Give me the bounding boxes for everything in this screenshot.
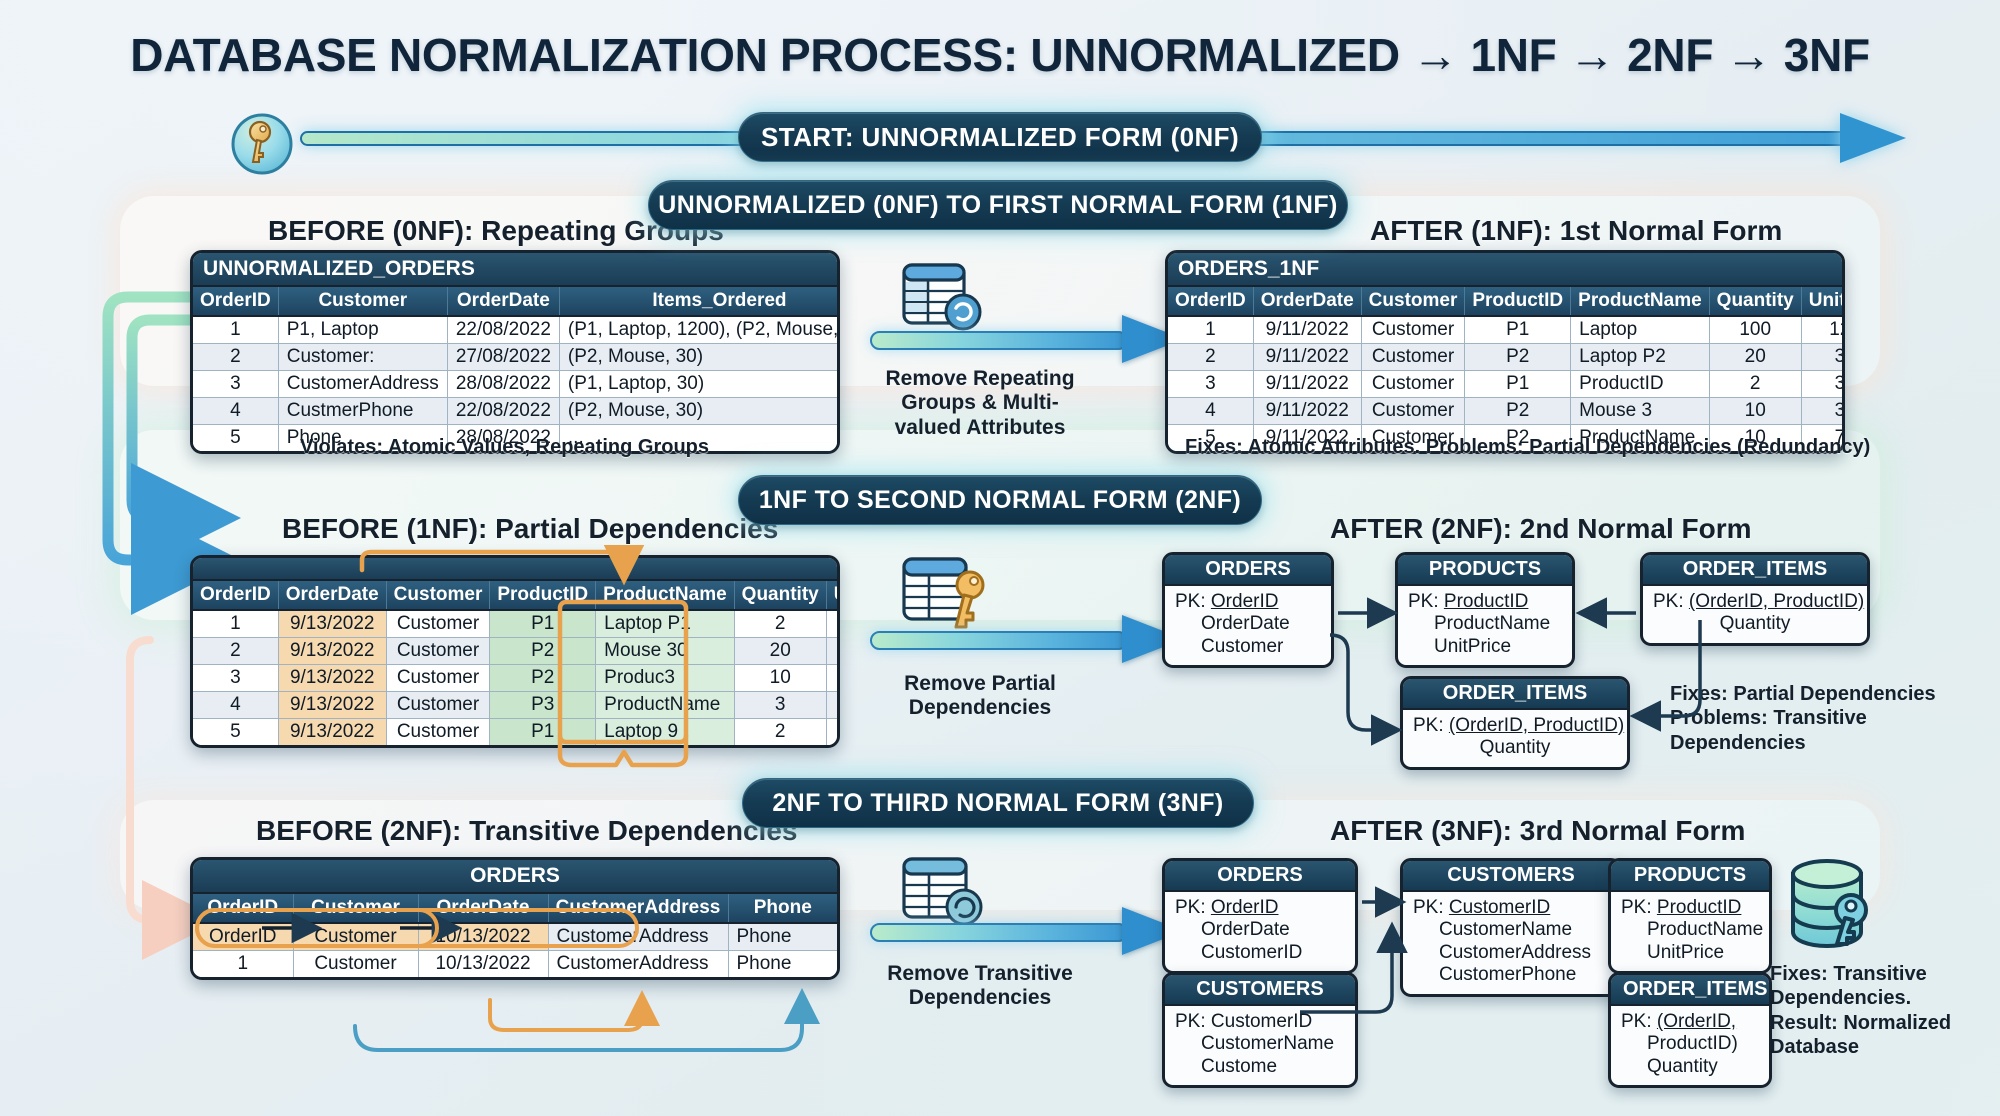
table-row: 59/13/2022CustomerP1Laptop 921300 — [193, 719, 840, 746]
cell: 9/13/2022 — [278, 638, 386, 665]
cell: 30 — [826, 665, 840, 692]
cell: P2 — [1465, 398, 1571, 425]
cell: 4 — [1168, 398, 1253, 425]
cell: CustmerPhone — [278, 398, 447, 425]
table-header-row: OrderID Customer OrderDate CustomerAddre… — [193, 893, 837, 923]
cell: Laptop P2 — [1571, 344, 1710, 371]
entity-title: ORDER_ITEMS — [1643, 555, 1867, 586]
page-title: DATABASE NORMALIZATION PROCESS: UNNORMAL… — [0, 28, 2000, 82]
entity-title: PRODUCTS — [1398, 555, 1572, 586]
pk-value: (OrderID, ProductID) — [1689, 591, 1864, 612]
cell: Laptop 9 — [596, 719, 735, 746]
cell: Customer — [386, 692, 490, 719]
cell: (P1, Laptop, 30) — [559, 371, 840, 398]
pk-prefix: PK: — [1175, 897, 1211, 918]
col-orderid: OrderID — [193, 580, 278, 610]
entity-customers-3nf-b: CUSTOMERS PK: CustomerID CustomerName Cu… — [1162, 972, 1358, 1088]
cell: P1 — [1465, 371, 1571, 398]
pk-prefix: PK: — [1413, 715, 1449, 736]
section-1-transform-arrow — [870, 325, 1200, 355]
table-row: 1 Customer 10/13/2022 CustomerAddress Ph… — [193, 951, 837, 978]
orders-2nf-transitive-table: ORDERS OrderID Customer OrderDate Custom… — [190, 857, 840, 980]
pk-prefix: PK: — [1408, 591, 1444, 612]
cell: Customer — [386, 665, 490, 692]
pk-value: (OrderID, ProductID) — [1449, 715, 1624, 736]
pk-value: OrderID — [1211, 897, 1279, 918]
cell: P1 — [1465, 316, 1571, 344]
table-name: ORDERS — [193, 860, 837, 893]
col-orderid: OrderID — [193, 893, 293, 923]
cell: 3 — [1168, 371, 1253, 398]
section-2-note: Fixes: Partial Dependencies Problems: Tr… — [1670, 682, 2000, 755]
entity-title: CUSTOMERS — [1403, 861, 1619, 892]
entity-field: CustomerID — [1175, 942, 1345, 964]
pk-value: CustomerID — [1449, 897, 1550, 918]
cell: 9/11/2022 — [1253, 371, 1361, 398]
entity-field: Custome — [1175, 1056, 1345, 1078]
cell: Customer — [293, 951, 418, 978]
entity-pk: PK: (OrderID, — [1621, 1011, 1759, 1033]
cell: Phone — [728, 951, 837, 978]
entity-field: CustomerPhone — [1413, 964, 1609, 986]
cell: 10/13/2022 — [418, 923, 548, 951]
cell: Customer — [386, 610, 490, 638]
cell: 2 — [1709, 371, 1801, 398]
cell: 300 — [1801, 344, 1845, 371]
cell: P2 — [490, 665, 596, 692]
cell: 4 — [193, 692, 278, 719]
col-orderdate: OrderDate — [447, 286, 559, 316]
cell: P1, Laptop — [278, 316, 447, 344]
cell: OrderID — [193, 923, 293, 951]
col-productname: ProductName — [1571, 286, 1710, 316]
table-header-row: OrderID OrderDate Customer ProductID Pro… — [1168, 286, 1845, 316]
col-unitprice: UnitPrice — [826, 580, 840, 610]
cell: CustomerAddress — [548, 951, 728, 978]
section-3-pill: 2NF TO THIRD NORMAL FORM (3NF) — [742, 778, 1254, 828]
pk-value: ProductID — [1657, 897, 1741, 918]
table-row: 3CustomerAddress28/08/2022(P1, Laptop, 3… — [193, 371, 840, 398]
flow-arrow-head — [1840, 113, 1906, 163]
col-unitprice: UnitPrice — [1801, 286, 1845, 316]
pk-value: CustomerID — [1211, 1011, 1312, 1032]
cell: Customer — [1361, 316, 1465, 344]
cell: Laptop P1 — [596, 610, 735, 638]
cell: 2 — [193, 638, 278, 665]
cell: 9/13/2022 — [278, 692, 386, 719]
cell: 2 — [734, 610, 826, 638]
cell: 300 — [1801, 398, 1845, 425]
entity-pk: PK: CustomerID — [1413, 897, 1609, 919]
entity-pk: PK: CustomerID — [1175, 1011, 1345, 1033]
cell: Produc3 — [596, 665, 735, 692]
cell: 3 — [734, 692, 826, 719]
cell: 22/08/2022 — [447, 316, 559, 344]
entity-title: CUSTOMERS — [1165, 975, 1355, 1006]
section-2-transform-label: Remove Partial Dependencies — [860, 672, 1100, 721]
section-1-transform-label: Remove Repeating Groups & Multi- valued … — [860, 367, 1100, 440]
arrow-bar — [870, 331, 1128, 350]
section-3-before-heading: BEFORE (2NF): Transitive Dependencies — [256, 815, 797, 847]
cell: Customer — [293, 923, 418, 951]
cell: 9/13/2022 — [278, 610, 386, 638]
entity-title: ORDER_ITEMS — [1611, 975, 1769, 1006]
entity-field: UnitPrice — [1408, 636, 1562, 658]
pk-value: (OrderID, — [1657, 1011, 1736, 1032]
cell: 2 — [193, 344, 278, 371]
pk-prefix: PK: — [1653, 591, 1689, 612]
key-icon — [230, 100, 294, 188]
cell: 27/08/2022 — [447, 344, 559, 371]
entity-field: UnitPrice — [1621, 942, 1759, 964]
cell: 1200 — [1801, 316, 1845, 344]
cell: 3 — [193, 371, 278, 398]
entity-products-3nf: PRODUCTS PK: ProductID ProductName UnitP… — [1608, 858, 1772, 974]
table-name: UNNORMALIZED_ORDERS — [193, 253, 840, 286]
pk-prefix: PK: — [1621, 1011, 1657, 1032]
cell: (P2, Mouse, 30) — [559, 398, 840, 425]
orders-1nf-table: ORDERS_1NF OrderID OrderDate Customer Pr… — [1165, 250, 1845, 454]
cell: ProductID — [1571, 371, 1710, 398]
entity-pk: PK: OrderID — [1175, 897, 1345, 919]
section-2-pill: 1NF TO SECOND NORMAL FORM (2NF) — [738, 475, 1262, 525]
section-2-before-heading: BEFORE (1NF): Partial Dependencies — [282, 513, 778, 545]
section-3-note: Fixes: Transitive Dependencies. Result: … — [1770, 962, 1990, 1060]
pk-prefix: PK: — [1621, 897, 1657, 918]
cell: 9/13/2022 — [278, 665, 386, 692]
table-row: 4CustmerPhone22/08/2022(P2, Mouse, 30) — [193, 398, 840, 425]
cell: 30 — [826, 638, 840, 665]
cell: Customer — [1361, 371, 1465, 398]
entity-field: Customer — [1175, 636, 1321, 658]
cell: P1 — [490, 610, 596, 638]
section-1-pill: UNNORMALIZED (0NF) TO FIRST NORMAL FORM … — [648, 180, 1348, 230]
entity-order-items-3nf: ORDER_ITEMS PK: (OrderID, ProductID) Qua… — [1608, 972, 1772, 1088]
section-3-transform-arrow — [870, 917, 1200, 947]
cell: 1 — [193, 951, 293, 978]
cell: 22/08/2022 — [447, 398, 559, 425]
pk-prefix: PK: — [1175, 1011, 1211, 1032]
entity-pk: PK: OrderID — [1175, 591, 1321, 613]
col-customer: Customer — [293, 893, 418, 923]
col-customer: Customer — [386, 580, 490, 610]
table-row: 2Customer:27/08/2022(P2, Mouse, 30) — [193, 344, 840, 371]
entity-order-items-2nf-a: ORDER_ITEMS PK: (OrderID, ProductID) Qua… — [1640, 552, 1870, 646]
section-1-before-caption: Violates: Atomic Values, Repeating Group… — [300, 436, 709, 459]
col-items-ordered: Items_Ordered — [559, 286, 840, 316]
cell: P2 — [490, 638, 596, 665]
table-row: 39/13/2022CustomerP2Produc31030 — [193, 665, 840, 692]
cell: 20 — [1709, 344, 1801, 371]
cell: 2 — [1168, 344, 1253, 371]
col-productid: ProductID — [1465, 286, 1571, 316]
cell: Mouse 3 — [1571, 398, 1710, 425]
cell: 10 — [1709, 398, 1801, 425]
col-customer: Customer — [278, 286, 447, 316]
table-row: 19/13/2022CustomerP1Laptop P121200 — [193, 610, 840, 638]
cell: 1 — [193, 610, 278, 638]
col-quantity: Quantity — [1709, 286, 1801, 316]
cell: 10/13/2022 — [418, 951, 548, 978]
cell: (P2, Mouse, 30) — [559, 344, 840, 371]
table-name: ORDERS_1NF — [1168, 253, 1845, 286]
entity-customers-3nf: CUSTOMERS PK: CustomerID CustomerName Cu… — [1400, 858, 1622, 997]
cell: 9/13/2022 — [278, 719, 386, 746]
cell: CustomerAddress — [548, 923, 728, 951]
entity-title: PRODUCTS — [1611, 861, 1769, 892]
col-orderid: OrderID — [193, 286, 278, 316]
entity-title: ORDERS — [1165, 555, 1331, 586]
cell: 3 — [193, 665, 278, 692]
col-productname: ProductName — [596, 580, 735, 610]
section-2-after-heading: AFTER (2NF): 2nd Normal Form — [1330, 513, 1752, 545]
table-row-dependency: OrderID Customer 10/13/2022 CustomerAddr… — [193, 923, 837, 951]
entity-products-2nf: PRODUCTS PK: ProductID ProductName UnitP… — [1395, 552, 1575, 668]
cell: P3 — [490, 692, 596, 719]
start-banner: START: UNNORMALIZED FORM (0NF) — [738, 112, 1262, 162]
cell: 9/11/2022 — [1253, 398, 1361, 425]
entity-pk: PK: (OrderID, ProductID) — [1653, 591, 1857, 613]
table-row: 29/11/2022CustomerP2Laptop P220300 — [1168, 344, 1845, 371]
table-row: 39/11/2022CustomerP1ProductID2300 — [1168, 371, 1845, 398]
cell: CustomerAddress — [278, 371, 447, 398]
cell: P2 — [1465, 344, 1571, 371]
cell: Customer — [386, 638, 490, 665]
entity-pk: PK: ProductID — [1408, 591, 1562, 613]
table-row: 19/11/2022CustomerP1Laptop1001200 — [1168, 316, 1845, 344]
col-customer: Customer — [1361, 286, 1465, 316]
entity-field: Quantity — [1413, 737, 1617, 759]
cell: 28/08/2022 — [447, 371, 559, 398]
section-1-after-caption: Fixes: Atomic Attributes. Problems: Part… — [1185, 436, 1870, 459]
cell: P1 — [490, 719, 596, 746]
pk-prefix: PK: — [1175, 591, 1211, 612]
cell: Customer — [386, 719, 490, 746]
cell: 20 — [734, 638, 826, 665]
entity-field: ProductName — [1621, 919, 1759, 941]
col-quantity: Quantity — [734, 580, 826, 610]
section-2-transform-arrow — [870, 625, 1200, 655]
cell: Mouse 30 — [596, 638, 735, 665]
table-row: 49/13/2022CustomerP3ProductName31200 — [193, 692, 840, 719]
cell: (P1, Laptop, 1200), (P2, Mouse, 30) — [559, 316, 840, 344]
col-orderdate: OrderDate — [1253, 286, 1361, 316]
col-orderid: OrderID — [1168, 286, 1253, 316]
orders-1nf-partial-dep-table: OrderID OrderDate Customer ProductID Pro… — [190, 555, 840, 748]
table-name-spacer — [193, 558, 840, 580]
col-orderdate: OrderDate — [418, 893, 548, 923]
pk-prefix: PK: — [1413, 897, 1449, 918]
entity-field: OrderDate — [1175, 919, 1345, 941]
col-customeraddress: CustomerAddress — [548, 893, 728, 923]
database-key-icon — [1775, 852, 1881, 963]
cell: 2 — [734, 719, 826, 746]
table-header-row: OrderID Customer OrderDate Items_Ordered — [193, 286, 840, 316]
col-orderdate: OrderDate — [278, 580, 386, 610]
entity-title: ORDER_ITEMS — [1403, 679, 1627, 710]
pk-value: ProductID — [1444, 591, 1528, 612]
entity-pk: PK: ProductID — [1621, 897, 1759, 919]
cell: 10 — [734, 665, 826, 692]
entity-field: CustomerName — [1175, 1033, 1345, 1055]
cell: 1 — [193, 316, 278, 344]
entity-title: ORDERS — [1165, 861, 1355, 892]
cell: Customer: — [278, 344, 447, 371]
cell: 4 — [193, 398, 278, 425]
cell: Phone — [728, 923, 837, 951]
entity-field: OrderDate — [1175, 613, 1321, 635]
section-3-after-heading: AFTER (3NF): 3rd Normal Form — [1330, 815, 1745, 847]
entity-field: Quantity — [1621, 1056, 1759, 1078]
cell: 1300 — [826, 719, 840, 746]
cell: 1200 — [826, 692, 840, 719]
entity-order-items-2nf-b: ORDER_ITEMS PK: (OrderID, ProductID) Qua… — [1400, 676, 1630, 770]
cell: 300 — [1801, 371, 1845, 398]
entity-orders-3nf: ORDERS PK: OrderID OrderDate CustomerID — [1162, 858, 1358, 974]
cell: 9/11/2022 — [1253, 316, 1361, 344]
entity-field: CustomerName — [1413, 919, 1609, 941]
table-header-row: OrderID OrderDate Customer ProductID Pro… — [193, 580, 840, 610]
cell: Laptop — [1571, 316, 1710, 344]
arrow-bar — [870, 923, 1128, 942]
table-row: 49/11/2022CustomerP2Mouse 310300 — [1168, 398, 1845, 425]
cell: 5 — [193, 719, 278, 746]
unnormalized-orders-table: UNNORMALIZED_ORDERS OrderID Customer Ord… — [190, 250, 840, 454]
entity-field: Quantity — [1653, 613, 1857, 635]
section-3-transform-label: Remove Transitive Dependencies — [860, 962, 1100, 1011]
cell: 1200 — [826, 610, 840, 638]
entity-field: CustomerAddress — [1413, 942, 1609, 964]
cell: 9/11/2022 — [1253, 344, 1361, 371]
entity-orders-2nf: ORDERS PK: OrderID OrderDate Customer — [1162, 552, 1334, 668]
arrow-bar — [870, 631, 1128, 650]
section-1-after-heading: AFTER (1NF): 1st Normal Form — [1370, 215, 1782, 247]
cell: Customer — [1361, 344, 1465, 371]
cell: Customer — [1361, 398, 1465, 425]
entity-pk: PK: (OrderID, ProductID) — [1413, 715, 1617, 737]
table-row: 29/13/2022CustomerP2Mouse 302030 — [193, 638, 840, 665]
cell: 100 — [1709, 316, 1801, 344]
cell: ProductName — [596, 692, 735, 719]
entity-field: ProductID) — [1621, 1033, 1759, 1055]
cell: 1 — [1168, 316, 1253, 344]
entity-field: ProductName — [1408, 613, 1562, 635]
table-row: 1P1, Laptop22/08/2022(P1, Laptop, 1200),… — [193, 316, 840, 344]
cell: 5 — [193, 425, 278, 452]
col-productid: ProductID — [490, 580, 596, 610]
col-phone: Phone — [728, 893, 837, 923]
pk-value: OrderID — [1211, 591, 1279, 612]
